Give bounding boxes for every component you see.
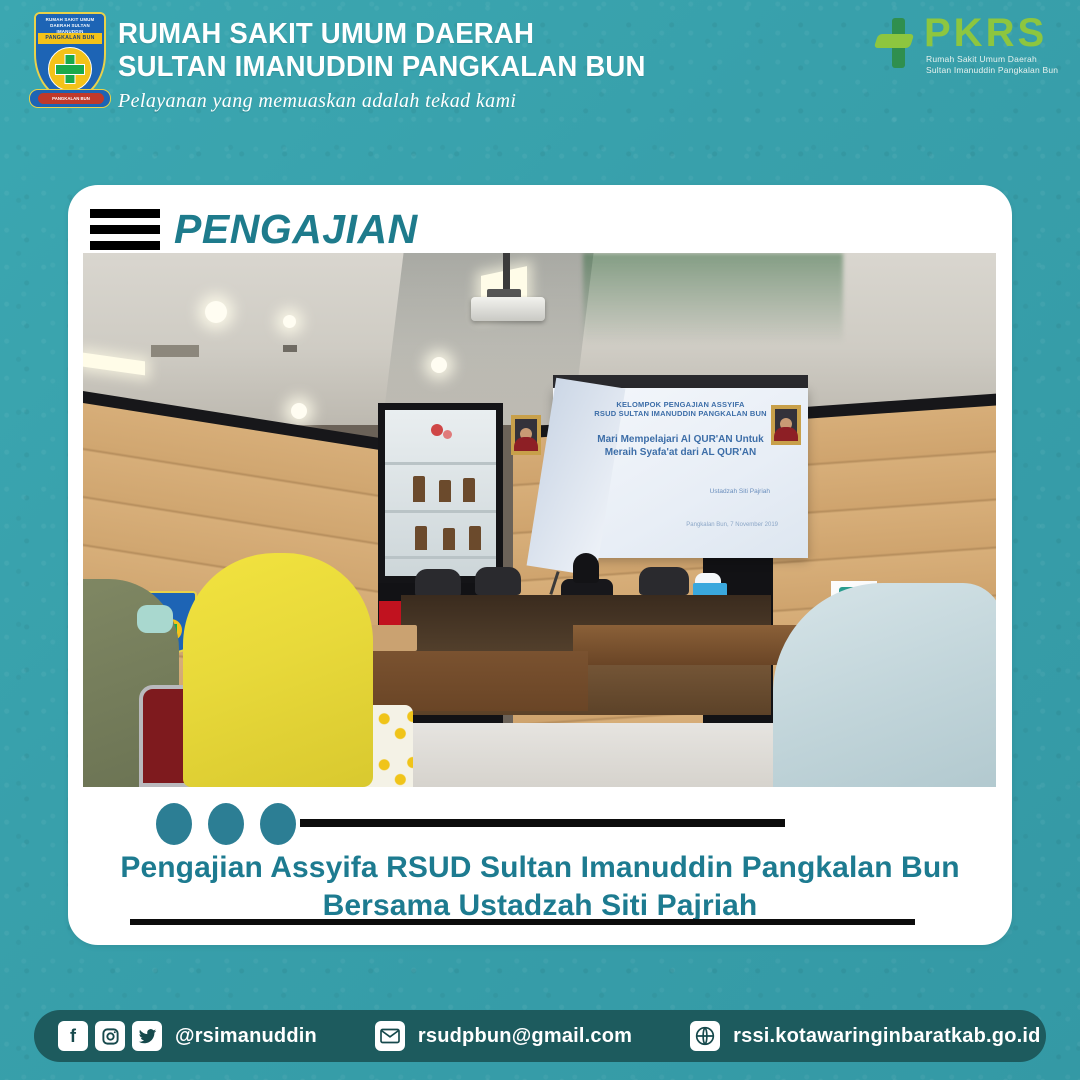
decorative-dots xyxy=(156,803,296,845)
event-photo: KELOMPOK PENGAJIAN ASSYIFA RSUD SULTAN I… xyxy=(83,253,996,787)
email-group[interactable]: rsudpbun@gmail.com xyxy=(375,1021,632,1051)
display-cabinet xyxy=(378,403,503,583)
crest-shield: RUMAH SAKIT UMUM DAERAH SULTAN IMANUDDIN… xyxy=(34,12,106,100)
social-handle[interactable]: @rsimanuddin xyxy=(175,1025,317,1048)
instagram-icon[interactable] xyxy=(95,1021,125,1051)
hospital-tagline: Pelayanan yang memuaskan adalah tekad ka… xyxy=(118,90,738,113)
email-address[interactable]: rsudpbun@gmail.com xyxy=(418,1025,632,1048)
cabinet-trophy-6 xyxy=(469,526,481,550)
social-group[interactable]: f @rsimanuddin xyxy=(58,1021,317,1051)
podium-chair-3 xyxy=(639,567,689,595)
projector-icon xyxy=(471,297,545,321)
pkrs-sub-line2: Sultan Imanuddin Pangkalan Bun xyxy=(926,65,1058,75)
hospital-crest-logo: RUMAH SAKIT UMUM DAERAH SULTAN IMANUDDIN… xyxy=(30,10,110,112)
dot-3 xyxy=(260,803,296,845)
crest-ribbon: PANGKALAN BUN xyxy=(29,89,111,108)
slide-heading-line2: RSUD SULTAN IMANUDDIN PANGKALAN BUN xyxy=(553,409,808,418)
hamburger-icon xyxy=(90,209,160,250)
attendee-blue-hijab xyxy=(773,583,996,787)
slide-place-date: Pangkalan Bun, 7 November 2019 xyxy=(553,522,808,528)
poster-canvas: RUMAH SAKIT UMUM DAERAH SULTAN IMANUDDIN… xyxy=(0,0,1080,1080)
speaker-person-head xyxy=(573,553,599,583)
cabinet-trophy-5 xyxy=(443,528,455,550)
content-card: PENGAJIAN xyxy=(68,185,1012,945)
cabinet-trophy-3 xyxy=(463,478,475,502)
wall-portrait-right xyxy=(771,405,801,445)
pkrs-logo: PKRS Rumah Sakit Umum Daerah Sultan Iman… xyxy=(876,12,1066,78)
cabinet-trophy-4 xyxy=(415,526,427,550)
caption-line-1: Pengajian Assyifa RSUD Sultan Imanuddin … xyxy=(88,849,992,887)
photo-ceiling-vent xyxy=(151,345,199,357)
globe-icon[interactable] xyxy=(690,1021,720,1051)
divider-bottom xyxy=(130,919,915,925)
projection-screen: KELOMPOK PENGAJIAN ASSYIFA RSUD SULTAN I… xyxy=(553,388,808,558)
slide-title-line2: Meraih Syafa'at dari AL QUR'AN xyxy=(553,447,808,458)
card-header: PENGAJIAN xyxy=(90,201,418,257)
photo-ceiling-light-1 xyxy=(205,301,227,323)
podium-chair-2 xyxy=(475,567,521,595)
photo-ceiling-fitting xyxy=(283,345,297,352)
crest-top-text: RUMAH SAKIT UMUM DAERAH SULTAN IMANUDDIN xyxy=(36,14,104,33)
dot-1 xyxy=(156,803,192,845)
hospital-name-line1: RUMAH SAKIT UMUM DAERAH xyxy=(118,18,707,51)
website-url[interactable]: rssi.kotawaringinbaratkab.go.id xyxy=(733,1025,1040,1048)
slide-title-line1: Mari Mempelajari Al QUR'AN Untuk xyxy=(553,434,808,445)
snack-box xyxy=(371,625,417,651)
photo-ceiling-light-2 xyxy=(283,315,296,328)
wall-portrait-left xyxy=(511,415,541,455)
photo-ceiling-light-4 xyxy=(431,357,447,373)
hospital-name-block: RUMAH SAKIT UMUM DAERAH SULTAN IMANUDDIN… xyxy=(118,18,738,113)
pkrs-sub-line1: Rumah Sakit Umum Daerah xyxy=(926,54,1037,64)
contact-footer: f @rsimanuddin rsudp xyxy=(34,1010,1046,1062)
divider-top xyxy=(300,819,785,827)
cabinet-flower xyxy=(431,424,443,436)
attendee-face-mask xyxy=(137,605,173,633)
slide-heading-line1: KELOMPOK PENGAJIAN ASSYIFA xyxy=(553,400,808,409)
podium-chair-1 xyxy=(415,569,461,597)
crest-band-text: PANGKALAN BUN xyxy=(38,33,102,44)
crest-cross-horizontal xyxy=(55,64,85,75)
poster-header: RUMAH SAKIT UMUM DAERAH SULTAN IMANUDDIN… xyxy=(0,0,1080,140)
email-icon[interactable] xyxy=(375,1021,405,1051)
dot-2 xyxy=(208,803,244,845)
cabinet-flower-2 xyxy=(443,430,452,439)
slide-speaker: Ustadzah Siti Pajriah xyxy=(553,488,808,495)
crest-ribbon-label: PANGKALAN BUN xyxy=(38,93,104,104)
pkrs-wordmark: PKRS xyxy=(924,12,1047,54)
page-title: PENGAJIAN xyxy=(174,206,418,253)
pkrs-mark-icon xyxy=(876,18,922,68)
photo-ceiling-light-3 xyxy=(291,403,307,419)
caption-block: Pengajian Assyifa RSUD Sultan Imanuddin … xyxy=(88,849,992,925)
attendee-yellow-hijab xyxy=(183,553,373,787)
website-group[interactable]: rssi.kotawaringinbaratkab.go.id xyxy=(690,1021,1040,1051)
photo-ceiling-reflection-green xyxy=(583,253,843,343)
cabinet-trophy-1 xyxy=(413,476,425,502)
facebook-icon[interactable]: f xyxy=(58,1021,88,1051)
cabinet-trophy-2 xyxy=(439,480,451,502)
hospital-name-line2: SULTAN IMANUDDIN PANGKALAN BUN xyxy=(118,51,707,84)
twitter-icon[interactable] xyxy=(132,1021,162,1051)
